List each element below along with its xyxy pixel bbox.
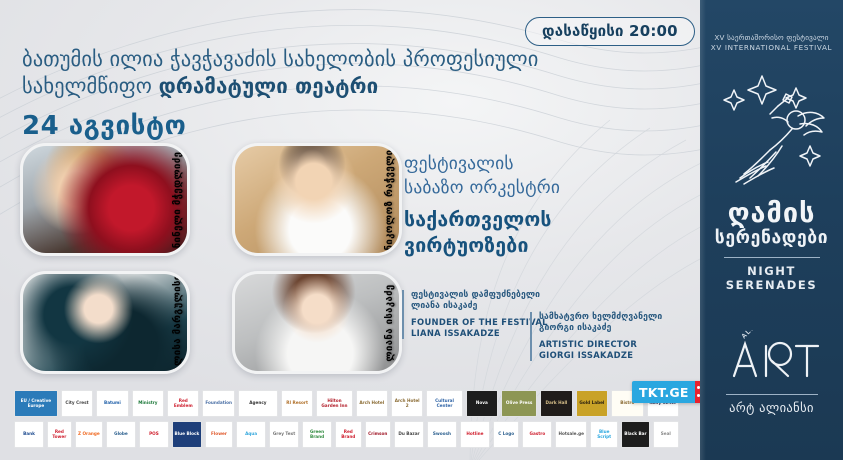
sponsor-logo[interactable]: RI Resort xyxy=(281,390,313,417)
sponsor-logo[interactable]: Gold Label xyxy=(576,390,608,417)
sponsor-logo-label: Blue Script xyxy=(592,430,616,439)
art-alliance-georgian: არტ ალიანსი xyxy=(700,400,843,415)
sponsor-logo-label: Bank xyxy=(23,432,35,436)
sponsor-logo-label: Red Brand xyxy=(337,430,360,439)
credit-eng-role: ARTISTIC DIRECTOR xyxy=(539,339,637,349)
sponsor-logo[interactable]: Agency xyxy=(238,390,278,417)
sponsor-logo[interactable]: Bank xyxy=(14,421,44,448)
sponsor-logo-label: EU / Creative Europe xyxy=(16,399,56,408)
sponsor-logo-label: Z Orange xyxy=(78,432,100,436)
headline-line-2-normal: სახელმწიფო xyxy=(22,74,159,98)
sponsor-logo[interactable]: Nova xyxy=(466,390,498,417)
sponsor-logo[interactable]: Hotsale.ge xyxy=(555,421,587,448)
sponsor-logo[interactable]: Hilton Garden Inn xyxy=(316,390,352,417)
festival-kicker: XV საერთაშორისო ფესტივალი XV INTERNATION… xyxy=(700,33,843,52)
performer-name-label: ნინელი მჭედლიძე xyxy=(172,151,183,248)
sponsor-logo-label: Crimson xyxy=(368,432,387,436)
credit-georgian: ფესტივალის დამფუძნებელი ლიანა ისაკაძე xyxy=(411,290,552,313)
sponsor-logo[interactable]: Arch Hotel 2 xyxy=(391,390,423,417)
sponsor-logo-label: Gold Label xyxy=(579,401,604,405)
performer-name-label: ნიკოლოზ რაჭველი xyxy=(384,149,395,250)
sponsor-logo[interactable]: Blue Script xyxy=(590,421,618,448)
festival-sidebar: XV საერთაშორისო ფესტივალი XV INTERNATION… xyxy=(700,0,843,460)
sponsor-logo-label: Aqua xyxy=(245,432,257,436)
angel-with-trumpet-icon xyxy=(714,60,830,190)
orchestra-name-line-1: საქართველოს xyxy=(404,208,552,231)
orchestra-role-line-2: საბაზო ორკესტრი xyxy=(404,178,560,198)
art-logo-divider xyxy=(726,394,818,395)
credit-eng-name: LIANA ISSAKADZE xyxy=(411,328,500,338)
credit-english: ARTISTIC DIRECTOR GIORGI ISSAKADZE xyxy=(539,339,690,361)
sponsor-logo[interactable]: Black Bar xyxy=(621,421,649,448)
sponsor-logo-label: Dark Hall xyxy=(546,401,568,405)
sponsor-logo-label: Du Bazar xyxy=(398,432,419,436)
performer-name-label: ლიანა ისაკაძე xyxy=(384,284,395,361)
sponsor-logo-label: City Crest xyxy=(65,401,88,405)
sponsor-logo[interactable]: Olive Press xyxy=(501,390,537,417)
alliance-arc-text: ALLIANCE xyxy=(740,330,775,340)
performer-photo[interactable]: ალისა მარგულისი xyxy=(20,271,190,374)
festival-kicker-georgian: XV საერთაშორისო ფესტივალი xyxy=(700,33,843,42)
performer-portrait-image xyxy=(23,146,187,253)
sponsor-row-bottom: BankRed TowerZ OrangeGlobePOSBlue BlockF… xyxy=(14,421,679,448)
sponsor-logo-label: Hotline xyxy=(466,432,483,436)
tkt-ge-badge[interactable]: TKT.GE xyxy=(632,381,711,403)
sponsor-logo-label: RI Resort xyxy=(286,401,308,405)
sponsor-logo-label: Red Emblem xyxy=(169,399,197,408)
sponsor-logo-label: Foundation xyxy=(205,401,232,405)
art-alliance-logo: ALLIANCE არტ ალიანსი xyxy=(700,330,843,415)
performer-portrait-image xyxy=(235,274,399,371)
sponsor-logo[interactable]: Flower xyxy=(205,421,233,448)
sponsor-logo[interactable]: Globe xyxy=(106,421,136,448)
credit-geo-role: ფესტივალის დამფუძნებელი xyxy=(411,290,540,300)
main-content-column: დასაწყისი 20:00 ბათუმის ილია ჭავჭავაძის … xyxy=(0,0,690,460)
sponsor-logo-label: Nova xyxy=(476,401,488,405)
event-poster: დასაწყისი 20:00 ბათუმის ილია ჭავჭავაძის … xyxy=(0,0,843,460)
credit-eng-name: GIORGI ISSAKADZE xyxy=(539,350,633,360)
orchestra-role: ფესტივალის საბაზო ორკესტრი xyxy=(404,152,686,200)
credit-artistic-director: სამხატვრო ხელმძღვანელი გიორგი ისაკაძე AR… xyxy=(530,312,690,361)
credit-eng-role: FOUNDER OF THE FESTIVAL xyxy=(411,317,548,327)
sponsor-logo-label: Green Brand xyxy=(304,430,330,439)
sponsor-logo[interactable]: Z Orange xyxy=(75,421,103,448)
brand-line-2: სერენადები xyxy=(700,229,843,249)
sponsor-logo-label: Black Bar xyxy=(624,432,646,436)
sponsor-logo[interactable]: Cultural Center xyxy=(426,390,462,417)
event-date: 24 აგვისტო xyxy=(22,111,186,141)
sponsor-logo-strip: EU / Creative EuropeCity CrestBatumiMini… xyxy=(14,390,679,452)
sponsor-logo[interactable]: Swoosh xyxy=(427,421,457,448)
brand-divider xyxy=(724,257,820,258)
tkt-ge-label: TKT.GE xyxy=(632,381,695,403)
sponsor-logo[interactable]: EU / Creative Europe xyxy=(14,390,58,417)
sponsor-logo-label: Hotsale.ge xyxy=(559,432,584,436)
brand-line-1: ღამის xyxy=(700,200,843,227)
sponsor-logo-label: Grey Text xyxy=(273,432,295,436)
performer-portrait-image xyxy=(23,274,187,371)
sponsor-logo[interactable]: Blue Block xyxy=(172,421,202,448)
orchestra-name-line-2: ვირტუოზები xyxy=(404,234,529,257)
credit-georgian: სამხატვრო ხელმძღვანელი გიორგი ისაკაძე xyxy=(539,312,690,335)
sponsor-logo[interactable]: Batumi xyxy=(96,390,128,417)
sponsor-logo[interactable]: Hotline xyxy=(460,421,490,448)
sponsor-logo[interactable]: Green Brand xyxy=(302,421,332,448)
sponsor-logo-label: Globe xyxy=(114,432,128,436)
credit-geo-role: სამხატვრო ხელმძღვანელი xyxy=(539,312,662,322)
performer-photo[interactable]: ნიკოლოზ რაჭველი xyxy=(232,143,402,256)
sponsor-logo[interactable]: Ministry xyxy=(132,390,164,417)
sponsor-logo-label: Blue Block xyxy=(175,432,200,436)
sponsor-logo-label: Cultural Center xyxy=(428,399,460,408)
sponsor-logo[interactable]: Red Tower xyxy=(47,421,72,448)
sponsor-logo-label: C Logo xyxy=(498,432,514,436)
sponsor-logo[interactable]: Foundation xyxy=(202,390,234,417)
sponsor-logo[interactable]: Du Bazar xyxy=(394,421,424,448)
sponsor-logo-label: Olive Press xyxy=(506,401,532,405)
sponsor-logo[interactable]: City Crest xyxy=(61,390,93,417)
performer-name-label: ალისა მარგულისი xyxy=(172,274,183,371)
sponsor-logo[interactable]: Arch Hotel xyxy=(356,390,388,417)
sponsor-logo-label: Flower xyxy=(211,432,227,436)
sponsor-logo-label: Hilton Garden Inn xyxy=(318,399,350,408)
performer-photo[interactable]: ლიანა ისაკაძე xyxy=(232,271,402,374)
sponsor-logo-label: Red Tower xyxy=(49,430,70,439)
sponsor-logo[interactable]: Red Brand xyxy=(335,421,362,448)
sponsor-logo[interactable]: Gastro xyxy=(522,421,552,448)
sponsor-logo[interactable]: Grey Text xyxy=(269,421,299,448)
festival-brand: ღამის სერენადები NIGHT SERENADES xyxy=(700,200,843,292)
sponsor-logo-label: Swoosh xyxy=(433,432,451,436)
sponsor-logo-label: Arch Hotel xyxy=(359,401,384,405)
performer-portrait-image xyxy=(235,146,399,253)
festival-kicker-english: XV INTERNATIONAL FESTIVAL xyxy=(700,43,843,52)
orchestra-role-line-1: ფესტივალის xyxy=(404,154,514,174)
orchestra-name: საქართველოს ვირტუოზები xyxy=(404,207,686,258)
sponsor-logo-label: Seal xyxy=(661,432,671,436)
venue-headline: ბათუმის ილია ჭავჭავაძის სახელობის პროფეს… xyxy=(22,46,582,101)
sponsor-logo[interactable]: Red Emblem xyxy=(167,390,199,417)
credit-geo-name: ლიანა ისაკაძე xyxy=(411,301,477,311)
sponsor-logo-label: Gastro xyxy=(530,432,546,436)
sponsor-logo[interactable]: C Logo xyxy=(493,421,520,448)
sponsor-logo-label: Batumi xyxy=(104,401,121,405)
sponsor-logo-label: Ministry xyxy=(138,401,157,405)
sponsor-logo[interactable]: Crimson xyxy=(365,421,392,448)
brand-english: NIGHT SERENADES xyxy=(700,264,843,292)
performer-photo[interactable]: ნინელი მჭედლიძე xyxy=(20,143,190,256)
art-alliance-mark-icon: ALLIANCE xyxy=(714,330,830,386)
orchestra-block: ფესტივალის საბაზო ორკესტრი საქართველოს ვ… xyxy=(404,152,686,259)
credit-geo-name: გიორგი ისაკაძე xyxy=(539,323,612,333)
sponsor-logo-label: Arch Hotel 2 xyxy=(393,399,421,408)
sponsor-row-top: EU / Creative EuropeCity CrestBatumiMini… xyxy=(14,390,679,417)
sponsor-logo-label: POS xyxy=(149,432,159,436)
headline-line-1: ბათუმის ილია ჭავჭავაძის სახელობის პროფეს… xyxy=(22,47,538,71)
start-time-badge: დასაწყისი 20:00 xyxy=(525,17,695,46)
sponsor-logo[interactable]: Seal xyxy=(653,421,680,448)
sponsor-logo[interactable]: POS xyxy=(139,421,169,448)
sponsor-logo[interactable]: Aqua xyxy=(236,421,266,448)
sponsor-logo-label: Agency xyxy=(249,401,266,405)
headline-line-2-bold: დრამატული თეატრი xyxy=(159,74,379,98)
sponsor-logo[interactable]: Dark Hall xyxy=(540,390,572,417)
